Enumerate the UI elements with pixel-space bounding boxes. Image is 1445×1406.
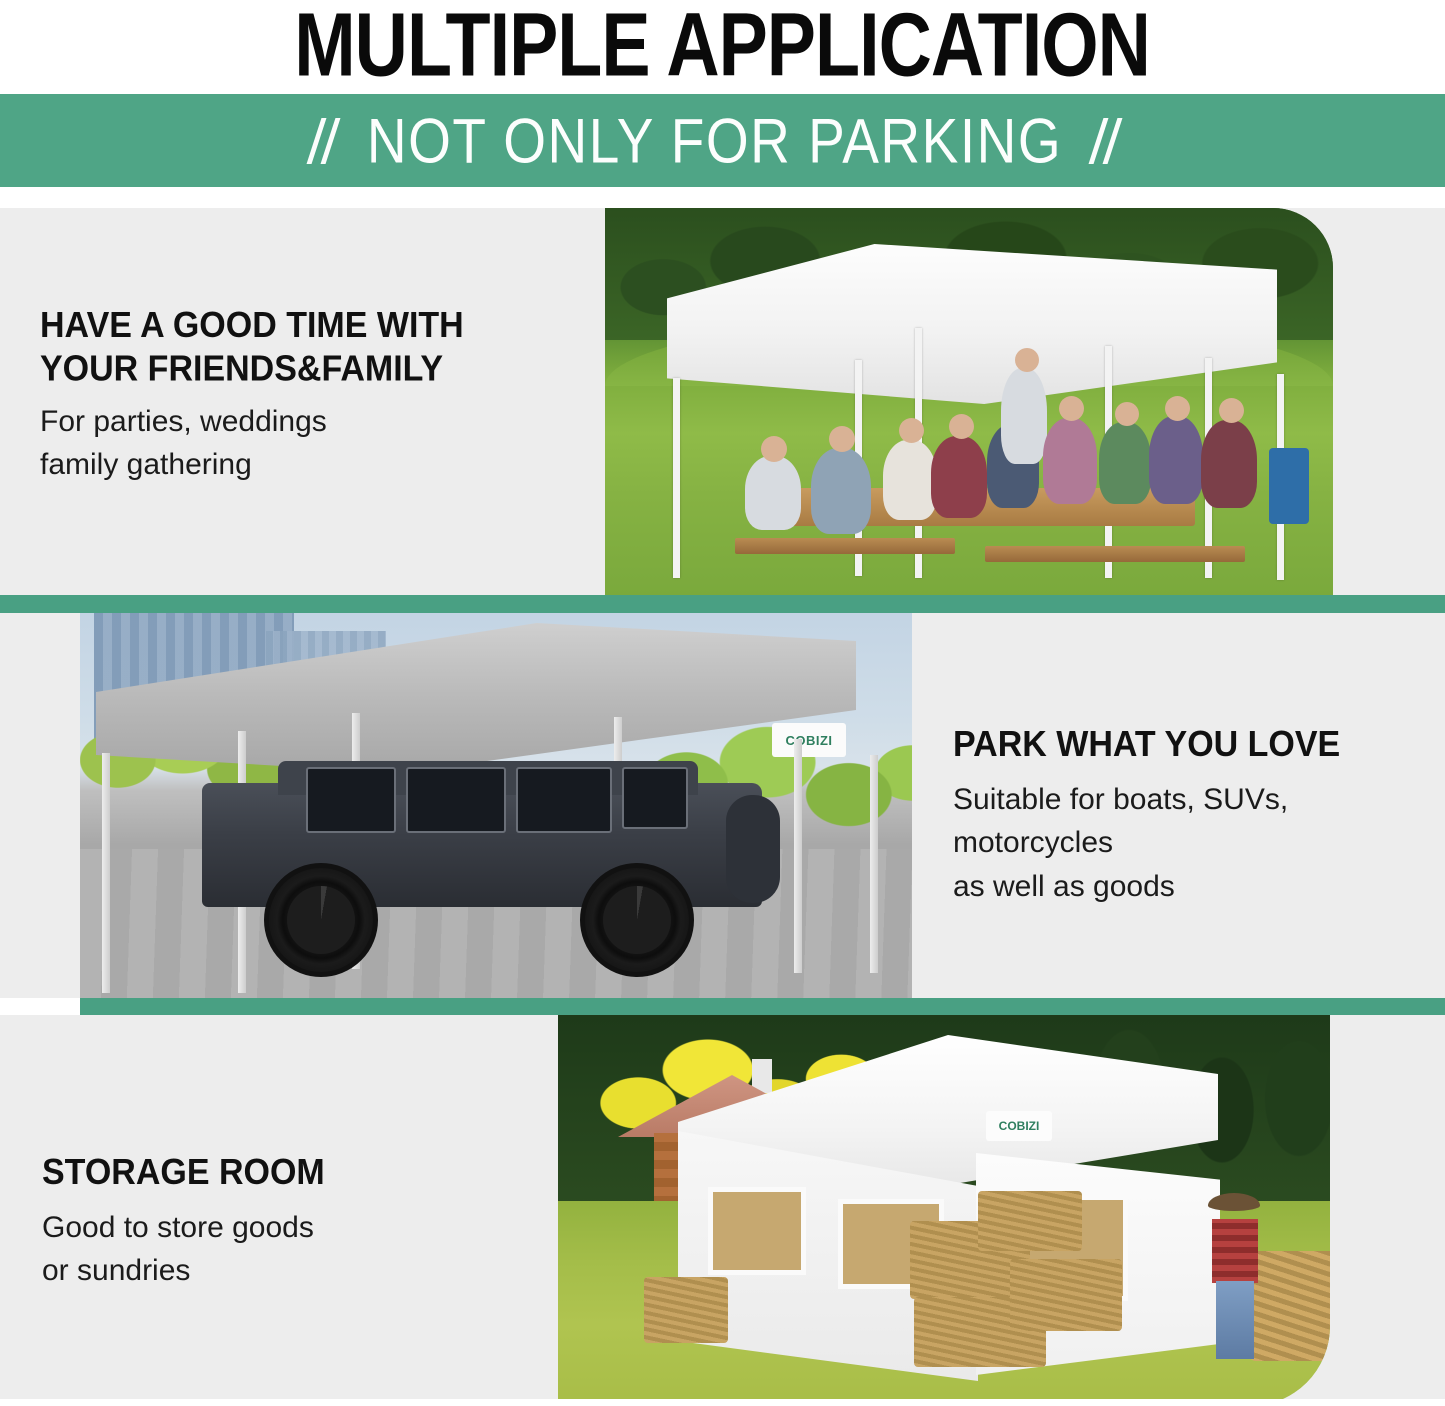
panel-2-heading-line-1: PARK WHAT YOU LOVE (953, 723, 1423, 766)
double-slash-left-icon (314, 118, 333, 164)
panel-1-heading-line-2: YOUR FRIENDS&FAMILY (40, 347, 580, 390)
subtitle-band: NOT ONLY FOR PARKING (0, 94, 1445, 187)
panel-3-sub-line-1: Good to store goods (42, 1206, 542, 1250)
bottom-strip (0, 1399, 1445, 1406)
panel-1-text-block: HAVE A GOOD TIME WITH YOUR FRIENDS&FAMIL… (40, 304, 580, 487)
section-divider-1 (0, 595, 1445, 613)
cobizi-logo-text: COBIZI (785, 733, 832, 748)
panel-2-photo: COBIZI (80, 613, 912, 999)
panel-3-text-block: STORAGE ROOM Good to store goods or sund… (42, 1151, 542, 1293)
panel-2-sub-line-3: as well as goods (953, 865, 1423, 909)
panel-3-photo: COBIZI (558, 1015, 1330, 1406)
cobizi-logo-tent: COBIZI (986, 1111, 1052, 1141)
page-title: MULTIPLE APPLICATION (295, 1, 1151, 91)
panel-2-heading: PARK WHAT YOU LOVE (953, 723, 1423, 766)
panel-2-sub-line-2: motorcycles (953, 821, 1423, 865)
double-slash-right-icon (1096, 118, 1115, 164)
cobizi-logo-carport: COBIZI (772, 723, 846, 757)
panel-2-subtext: Suitable for boats, SUVs, motorcycles as… (953, 778, 1423, 909)
panel-1-subtext: For parties, weddings family gathering (40, 400, 580, 487)
panel-3-heading: STORAGE ROOM (42, 1151, 542, 1194)
panel-3-sub-line-2: or sundries (42, 1249, 542, 1293)
suv-vehicle-shape (202, 761, 762, 951)
panel-3-heading-line-1: STORAGE ROOM (42, 1151, 542, 1194)
cobizi-logo-text-2: COBIZI (999, 1119, 1040, 1133)
panel-1-heading: HAVE A GOOD TIME WITH YOUR FRIENDS&FAMIL… (40, 304, 580, 390)
section-divider-2 (80, 998, 1445, 1016)
panel-1-sub-line-2: family gathering (40, 443, 580, 487)
subtitle-text: NOT ONLY FOR PARKING (367, 104, 1062, 177)
panel-1-sub-line-1: For parties, weddings (40, 400, 580, 444)
panel-1-photo (605, 208, 1333, 596)
panel-3-subtext: Good to store goods or sundries (42, 1206, 542, 1293)
panel-1-heading-line-1: HAVE A GOOD TIME WITH (40, 304, 580, 347)
panel-2-text-block: PARK WHAT YOU LOVE Suitable for boats, S… (953, 723, 1423, 908)
panel-2-sub-line-1: Suitable for boats, SUVs, (953, 778, 1423, 822)
person-with-hay-shape (1198, 1193, 1272, 1363)
page-title-bar: MULTIPLE APPLICATION (0, 0, 1445, 92)
